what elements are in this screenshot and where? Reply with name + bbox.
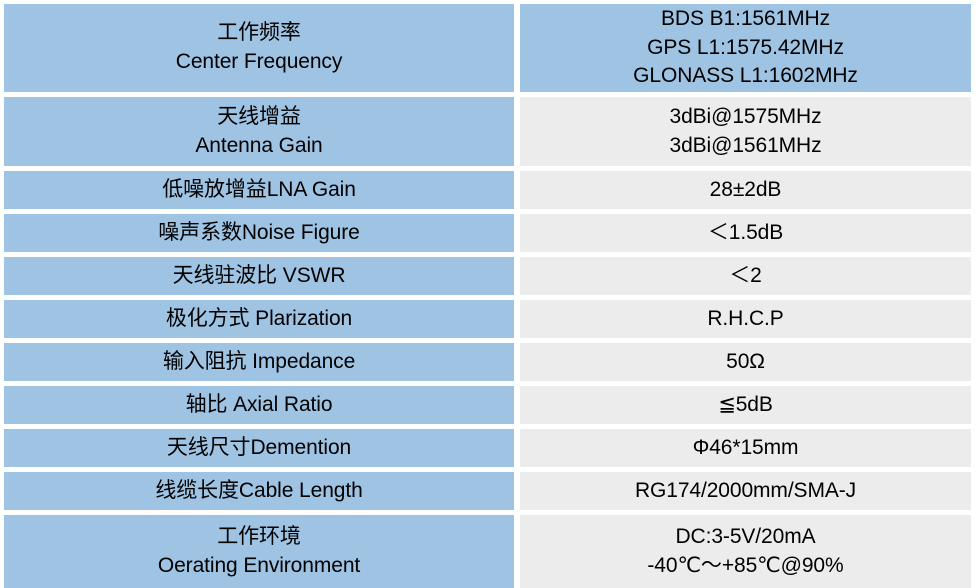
spec-value-line: GPS L1:1575.42MHz: [647, 34, 844, 63]
spec-parameter-cell: 天线尺寸Demention: [4, 429, 514, 467]
spec-value-line: ≦5dB: [718, 391, 773, 420]
table-row: 天线驻波比 VSWR＜2: [4, 257, 971, 295]
spec-parameter-line: 极化方式 Plarization: [166, 305, 352, 334]
spec-value-cell: ＜1.5dB: [520, 214, 971, 252]
spec-parameter-line: 天线尺寸Demention: [167, 434, 351, 463]
table-row: 天线增益Antenna Gain3dBi@1575MHz3dBi@1561MHz: [4, 97, 971, 166]
spec-value-line: 28±2dB: [710, 176, 782, 205]
spec-value-cell: 28±2dB: [520, 171, 971, 209]
table-row: 工作频率Center FrequencyBDS B1:1561MHzGPS L1…: [4, 4, 971, 92]
spec-value-line: Φ46*15mm: [693, 434, 799, 463]
table-row: 轴比 Axial Ratio≦5dB: [4, 386, 971, 424]
spec-parameter-line: Antenna Gain: [195, 132, 322, 161]
table-row: 天线尺寸DementionΦ46*15mm: [4, 429, 971, 467]
spec-parameter-line: 线缆长度Cable Length: [155, 477, 362, 506]
spec-parameter-line: Center Frequency: [176, 48, 342, 77]
spec-parameter-line: 工作频率: [217, 19, 301, 48]
spec-value-line: DC:3-5V/20mA: [675, 523, 815, 552]
spec-parameter-line: 轴比 Axial Ratio: [186, 391, 333, 420]
spec-value-line: ＜2: [729, 262, 761, 291]
table-row: 噪声系数Noise Figure＜1.5dB: [4, 214, 971, 252]
spec-parameter-cell: 线缆长度Cable Length: [4, 472, 514, 510]
spec-parameter-cell: 输入阻抗 Impedance: [4, 343, 514, 381]
spec-value-cell: DC:3-5V/20mA-40℃～+85℃@90%: [520, 515, 971, 588]
table-row: 低噪放增益LNA Gain28±2dB: [4, 171, 971, 209]
table-row: 极化方式 PlarizationR.H.C.P: [4, 300, 971, 338]
spec-value-cell: 3dBi@1575MHz3dBi@1561MHz: [520, 97, 971, 166]
spec-parameter-cell: 工作频率Center Frequency: [4, 4, 514, 92]
table-row: 输入阻抗 Impedance50Ω: [4, 343, 971, 381]
spec-value-line: 50Ω: [726, 348, 765, 377]
spec-parameter-cell: 天线驻波比 VSWR: [4, 257, 514, 295]
spec-parameter-line: 噪声系数Noise Figure: [158, 219, 359, 248]
specification-table: 工作频率Center FrequencyBDS B1:1561MHzGPS L1…: [0, 0, 978, 546]
spec-value-line: R.H.C.P: [707, 305, 783, 334]
spec-value-cell: RG174/2000mm/SMA-J: [520, 472, 971, 510]
spec-parameter-cell: 天线增益Antenna Gain: [4, 97, 514, 166]
table-row: 线缆长度Cable LengthRG174/2000mm/SMA-J: [4, 472, 971, 510]
spec-parameter-line: 低噪放增益LNA Gain: [162, 176, 356, 205]
table-row: 工作环境Oerating EnvironmentDC:3-5V/20mA-40℃…: [4, 515, 971, 588]
spec-parameter-line: 工作环境: [217, 523, 301, 552]
spec-value-line: -40℃～+85℃@90%: [647, 552, 843, 581]
spec-parameter-line: 天线驻波比 VSWR: [173, 262, 346, 291]
spec-value-line: 3dBi@1575MHz: [669, 103, 821, 132]
spec-parameter-line: 天线增益: [217, 103, 301, 132]
spec-value-line: GLONASS L1:1602MHz: [633, 62, 858, 91]
spec-parameter-cell: 极化方式 Plarization: [4, 300, 514, 338]
spec-value-cell: ≦5dB: [520, 386, 971, 424]
spec-parameter-cell: 低噪放增益LNA Gain: [4, 171, 514, 209]
spec-parameter-cell: 噪声系数Noise Figure: [4, 214, 514, 252]
spec-value-line: 3dBi@1561MHz: [669, 132, 821, 161]
spec-value-line: RG174/2000mm/SMA-J: [635, 477, 856, 506]
spec-parameter-line: 输入阻抗 Impedance: [163, 348, 355, 377]
spec-value-cell: R.H.C.P: [520, 300, 971, 338]
spec-value-line: ＜1.5dB: [708, 219, 783, 248]
spec-parameter-cell: 轴比 Axial Ratio: [4, 386, 514, 424]
spec-value-cell: ＜2: [520, 257, 971, 295]
spec-parameter-line: Oerating Environment: [158, 552, 360, 581]
spec-value-cell: 50Ω: [520, 343, 971, 381]
spec-value-line: BDS B1:1561MHz: [661, 5, 830, 34]
spec-parameter-cell: 工作环境Oerating Environment: [4, 515, 514, 588]
spec-value-cell: Φ46*15mm: [520, 429, 971, 467]
spec-value-cell: BDS B1:1561MHzGPS L1:1575.42MHzGLONASS L…: [520, 4, 971, 92]
